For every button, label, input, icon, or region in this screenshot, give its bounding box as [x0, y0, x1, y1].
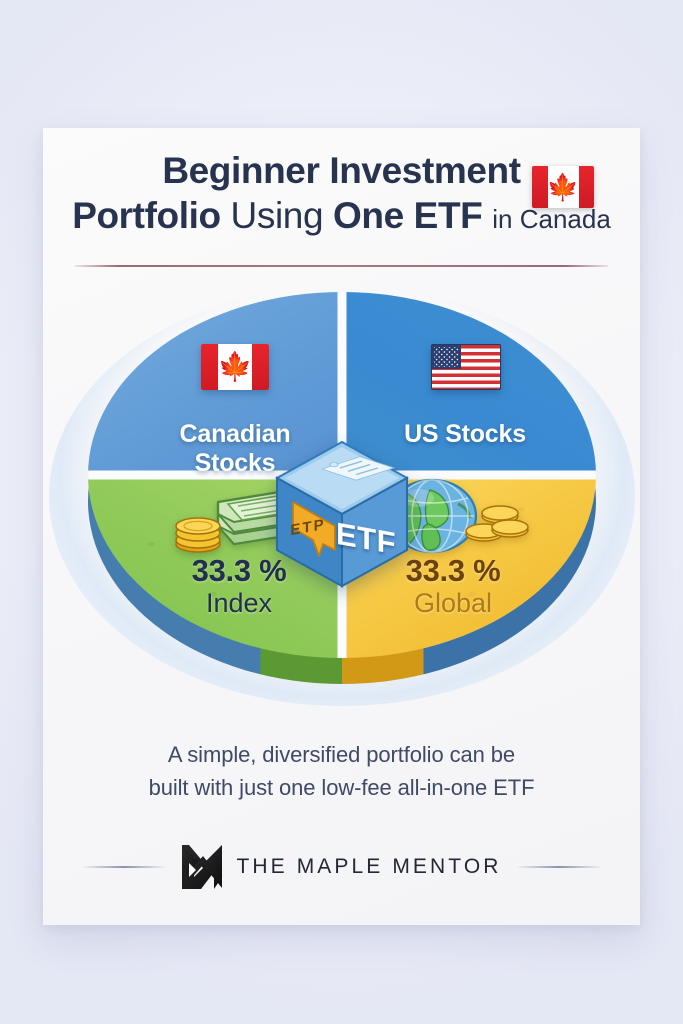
footer-rule-right — [518, 866, 600, 868]
canada-flag-shape: 🍁 — [201, 344, 269, 390]
etf-cube-icon — [271, 438, 413, 590]
pie-stat-index-label: Index — [144, 589, 334, 619]
poster-tagline: A simple, diversified portfolio can be b… — [83, 738, 600, 805]
usa-flag-canton — [432, 345, 461, 369]
canada-flag-icon: 🍁 — [201, 344, 269, 390]
brand-lockup: THE MAPLE MENTOR — [181, 844, 501, 890]
usa-flag-icon — [431, 344, 501, 390]
poster-footer: THE MAPLE MENTOR — [83, 844, 600, 890]
title-text-in-canada: in Canada — [492, 204, 611, 234]
usa-flag-shape — [431, 344, 501, 390]
title-divider-rule — [75, 265, 608, 267]
maple-leaf-glyph: 🍁 — [218, 353, 253, 381]
maple-mentor-monogram-icon — [181, 844, 223, 890]
title-text-portfolio: Portfolio — [72, 195, 220, 236]
poster-title: Beginner Investment Portfolio Using One … — [43, 150, 640, 238]
tagline-line-2: built with just one low-fee all-in-one E… — [83, 771, 600, 804]
pie-stat-global-label: Global — [358, 589, 548, 619]
footer-rule-left — [83, 866, 165, 868]
tagline-line-1: A simple, diversified portfolio can be — [83, 738, 600, 771]
canada-flag-icon: 🍁 — [532, 166, 594, 208]
title-text-using: Using — [221, 195, 333, 236]
brand-name: THE MAPLE MENTOR — [236, 855, 501, 879]
poster-card: Beginner Investment Portfolio Using One … — [43, 128, 640, 925]
title-text-one-etf: One ETF — [333, 195, 482, 236]
maple-leaf-glyph: 🍁 — [547, 174, 579, 200]
canada-flag-shape: 🍁 — [532, 166, 594, 208]
pie-wrapper: 🍁 Canadian Stocks US Stocks — [88, 292, 596, 684]
title-text-bold-1: Beginner Investment — [162, 150, 520, 191]
portfolio-pie-chart: 🍁 Canadian Stocks US Stocks — [43, 278, 640, 718]
texture-speckle — [148, 542, 155, 546]
